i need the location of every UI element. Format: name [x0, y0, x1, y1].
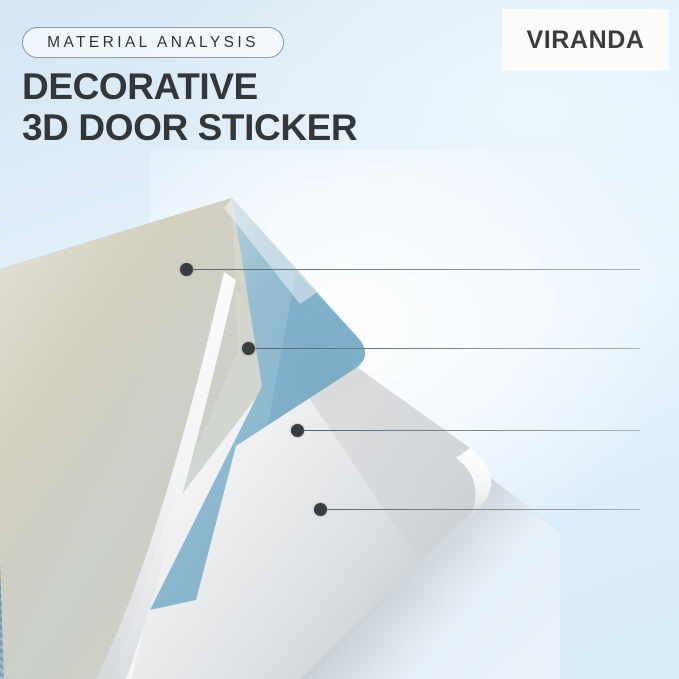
brand-logo: VIRANDA — [503, 10, 668, 70]
callout-leader-line-1 — [192, 269, 640, 270]
callout-leader-line-2 — [254, 348, 640, 349]
page-title: DECORATIVE 3D DOOR STICKER — [22, 66, 492, 148]
material-analysis-infographic: MATERIAL ANALYSIS DECORATIVE 3D DOOR STI… — [0, 0, 679, 679]
eyebrow-label: MATERIAL ANALYSIS — [47, 34, 259, 52]
callout-leader-line-4 — [326, 509, 640, 510]
page-title-line-1: DECORATIVE — [22, 66, 492, 107]
callout-leader-line-3 — [303, 430, 640, 431]
eyebrow-badge: MATERIAL ANALYSIS — [22, 27, 284, 58]
page-title-line-2: 3D DOOR STICKER — [22, 107, 492, 148]
brand-logo-label: VIRANDA — [526, 26, 644, 55]
